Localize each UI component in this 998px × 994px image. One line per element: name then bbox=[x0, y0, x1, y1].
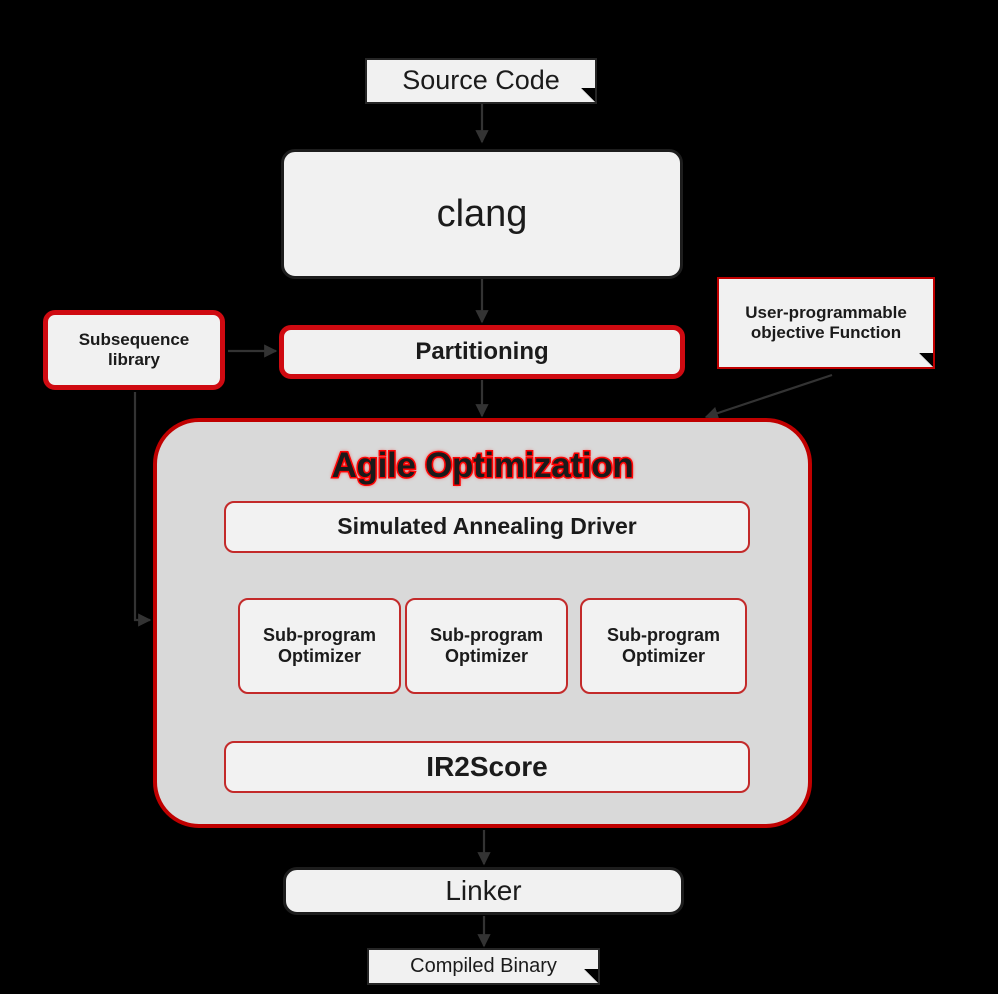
node-clang[interactable]: clang bbox=[281, 149, 683, 279]
diagram-canvas: Source Code clang Subsequence library Pa… bbox=[0, 0, 998, 994]
node-ir2score-label: IR2Score bbox=[426, 750, 547, 783]
node-sub-program-optimizer-1-label-line2: Optimizer bbox=[278, 646, 361, 667]
node-clang-label: clang bbox=[437, 192, 528, 237]
node-linker[interactable]: Linker bbox=[283, 867, 684, 915]
node-subsequence-library-label-line2: library bbox=[108, 350, 160, 370]
node-sub-program-optimizer-2[interactable]: Sub-program Optimizer bbox=[405, 598, 568, 694]
page-fold-icon bbox=[919, 353, 935, 369]
edge-objective-to-agile bbox=[706, 375, 832, 417]
node-subsequence-library[interactable]: Subsequence library bbox=[43, 310, 225, 390]
node-simulated-annealing-driver[interactable]: Simulated Annealing Driver bbox=[224, 501, 750, 553]
node-sub-program-optimizer-3-label-line1: Sub-program bbox=[607, 625, 720, 646]
page-fold-icon bbox=[584, 969, 600, 985]
node-source-code[interactable]: Source Code bbox=[365, 58, 597, 104]
node-sub-program-optimizer-1[interactable]: Sub-program Optimizer bbox=[238, 598, 401, 694]
node-user-objective-label-line2: objective Function bbox=[751, 323, 901, 343]
node-partitioning-label: Partitioning bbox=[415, 338, 548, 366]
node-linker-label: Linker bbox=[445, 874, 521, 907]
node-sub-program-optimizer-2-label-line2: Optimizer bbox=[445, 646, 528, 667]
edge-library-to-agile bbox=[135, 392, 150, 620]
node-subsequence-library-label-line1: Subsequence bbox=[79, 330, 190, 350]
node-sub-program-optimizer-3-label-line2: Optimizer bbox=[622, 646, 705, 667]
node-user-objective-label-line1: User-programmable bbox=[745, 303, 907, 323]
node-sub-program-optimizer-3[interactable]: Sub-program Optimizer bbox=[580, 598, 747, 694]
page-fold-icon bbox=[581, 88, 597, 104]
node-sub-program-optimizer-1-label-line1: Sub-program bbox=[263, 625, 376, 646]
group-agile-optimization-title: Agile Optimization bbox=[153, 446, 812, 486]
node-simulated-annealing-driver-label: Simulated Annealing Driver bbox=[337, 513, 637, 540]
node-ir2score[interactable]: IR2Score bbox=[224, 741, 750, 793]
node-source-code-label: Source Code bbox=[402, 65, 560, 97]
node-sub-program-optimizer-2-label-line1: Sub-program bbox=[430, 625, 543, 646]
node-compiled-binary[interactable]: Compiled Binary bbox=[367, 948, 600, 985]
node-compiled-binary-label: Compiled Binary bbox=[410, 955, 557, 979]
node-partitioning[interactable]: Partitioning bbox=[279, 325, 685, 379]
node-user-objective-function[interactable]: User-programmable objective Function bbox=[717, 277, 935, 369]
